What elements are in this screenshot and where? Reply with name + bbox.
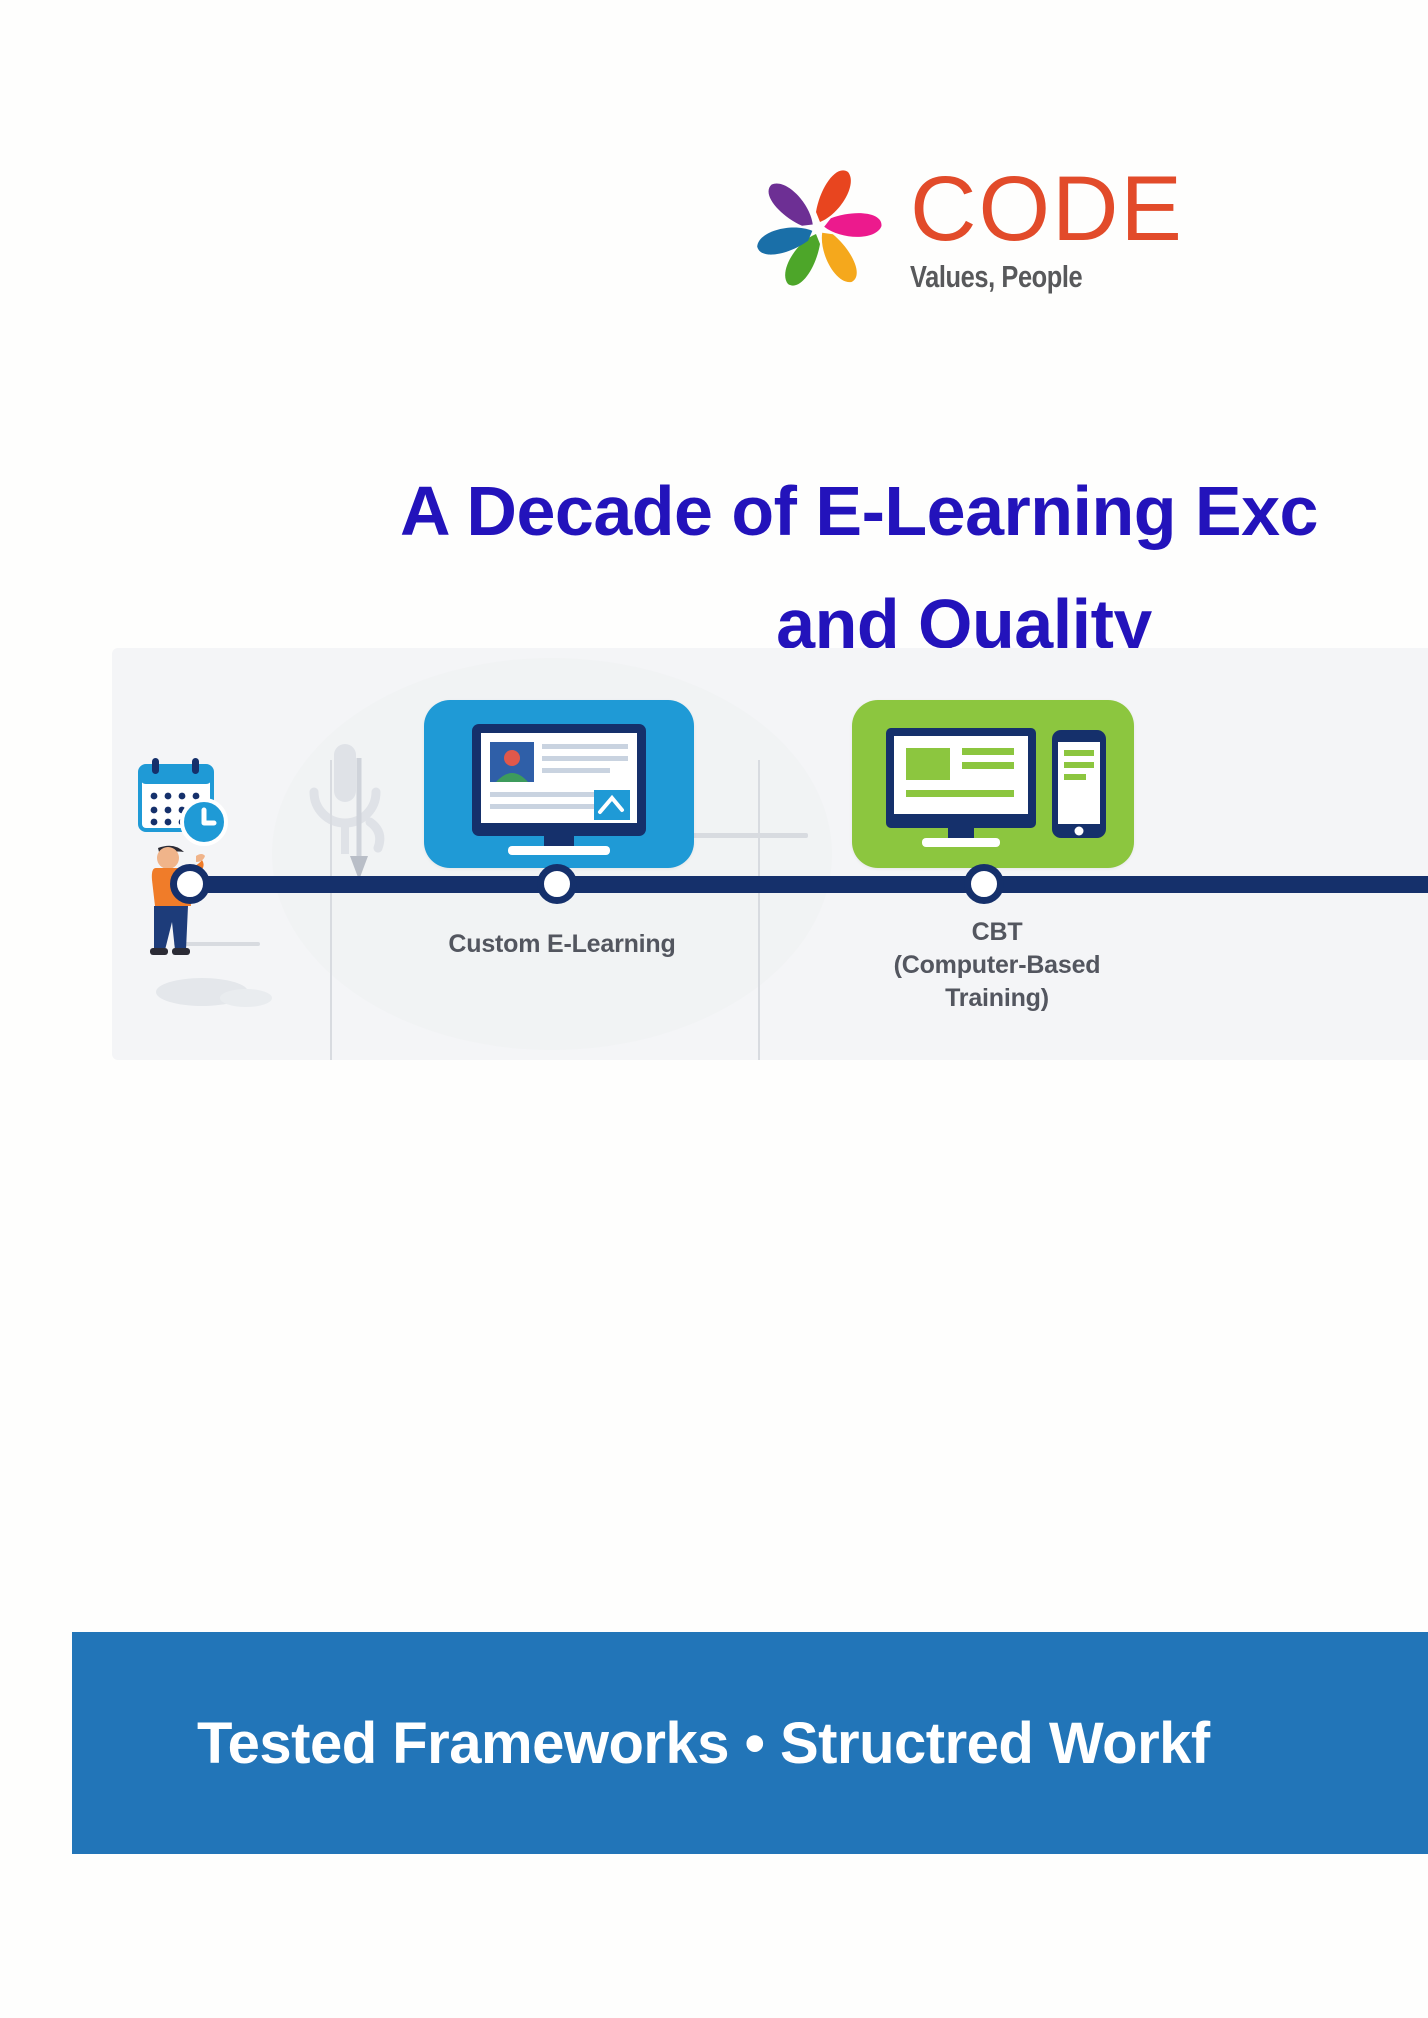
down-arrow-icon <box>348 758 370 884</box>
milestone-label-cbt: CBT (Computer-Based Training) <box>832 916 1162 1015</box>
milestone-label-custom-elearning: Custom E-Learning <box>412 928 712 961</box>
milestone-label-cbt-line-1: CBT <box>832 916 1162 949</box>
microphone-icon <box>290 736 400 866</box>
milestone-card-cbt[interactable] <box>852 700 1134 868</box>
shelf-line-icon <box>688 831 808 839</box>
brand-logo: CODE Values, People <box>752 148 1428 308</box>
person-figure-icon <box>134 838 220 969</box>
milestone-label-cbt-line-3: Training) <box>832 982 1162 1015</box>
milestone-label-cbt-line-2: (Computer-Based <box>832 949 1162 982</box>
timeline-node-custom-elearning[interactable] <box>537 864 577 904</box>
brand-wordmark: CODE <box>910 165 1184 253</box>
milestone-card-custom-elearning[interactable] <box>424 700 694 868</box>
page-title-line-1: A Decade of E-Learning Exc <box>290 455 1428 568</box>
pinwheel-logo-icon <box>752 162 884 294</box>
brand-tagline: Values, People <box>910 259 1135 295</box>
ground-shadow-icon <box>146 966 286 1010</box>
timeline-node-cbt[interactable] <box>964 864 1004 904</box>
bottom-banner-text: Tested Frameworks • Structred Workf <box>197 1710 1210 1777</box>
timeline-rail <box>174 876 1428 893</box>
divider-tick <box>330 760 332 1060</box>
slide-canvas: CODE Values, People A Decade of E-Learni… <box>0 0 1428 2018</box>
timeline-node-start[interactable] <box>170 864 210 904</box>
brand-text: CODE Values, People <box>910 161 1184 295</box>
divider-tick <box>758 760 760 1060</box>
timeline-infographic: Custom E-Learning CBT (Computer-Based Tr… <box>112 648 1428 1068</box>
bottom-banner: Tested Frameworks • Structred Workf <box>72 1632 1428 1854</box>
